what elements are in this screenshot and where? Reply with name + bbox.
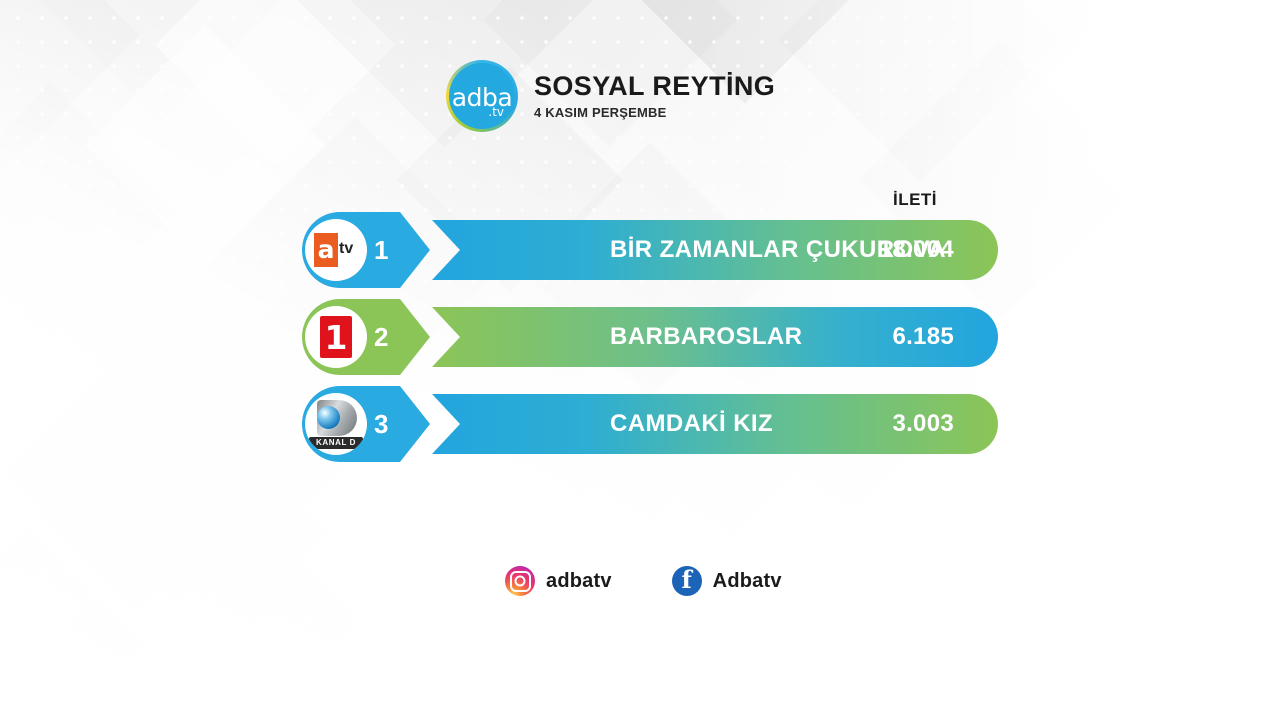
ranking-row: CAMDAKİ KIZ 3.003 KANAL D 3: [302, 386, 998, 462]
rank-badge: 1 2: [302, 299, 430, 375]
facebook-account[interactable]: f Adbatv: [672, 566, 782, 596]
kanald-nameplate-text: KANAL D: [316, 439, 356, 447]
page-subtitle-date: 4 KASIM PERŞEMBE: [534, 105, 775, 120]
instagram-icon[interactable]: [505, 566, 535, 596]
atv-mark: a tv: [311, 233, 361, 267]
message-count: 3.003: [892, 410, 954, 438]
adba-tv-logo-icon: adba .tv: [446, 60, 518, 132]
instagram-account[interactable]: adbatv: [505, 566, 612, 596]
rank-number: 2: [374, 324, 388, 350]
kanald-sphere: [317, 406, 340, 429]
rank-badge: KANAL D 3: [302, 386, 430, 462]
header: adba .tv SOSYAL REYTİNG 4 KASIM PERŞEMBE: [446, 60, 775, 132]
instagram-handle: adbatv: [546, 570, 612, 593]
ranking-bar: BARBAROSLAR 6.185: [432, 307, 998, 367]
social-footer: adbatv f Adbatv: [505, 566, 782, 596]
kanald-logo-icon: KANAL D: [305, 393, 367, 455]
trt1-logo-icon: 1: [305, 306, 367, 368]
header-text-block: SOSYAL REYTİNG 4 KASIM PERŞEMBE: [534, 72, 775, 120]
ranking-row: BİR ZAMANLAR ÇUKUROVA 18.004 a tv 1: [302, 212, 998, 288]
facebook-handle: Adbatv: [713, 570, 782, 593]
ranking-bar: CAMDAKİ KIZ 3.003: [432, 394, 998, 454]
facebook-f-glyph: f: [682, 568, 692, 592]
atv-logo-icon: a tv: [305, 219, 367, 281]
atv-letter: a: [318, 237, 335, 262]
trt1-digit: 1: [325, 321, 348, 354]
program-name: BARBAROSLAR: [610, 323, 802, 351]
social-rating-graphic: adba .tv SOSYAL REYTİNG 4 KASIM PERŞEMBE…: [0, 0, 1280, 720]
message-count: 18.004: [879, 236, 954, 264]
kanald-nameplate: KANAL D: [309, 437, 363, 449]
rank-number: 1: [374, 237, 388, 263]
atv-orange-box: a: [314, 233, 338, 267]
trt1-red-box: 1: [320, 316, 352, 358]
rank-badge: a tv 1: [302, 212, 430, 288]
atv-suffix: tv: [339, 241, 353, 257]
value-column-header: İLETİ: [855, 190, 975, 210]
message-count: 6.185: [892, 323, 954, 351]
logo-inner-disc: adba .tv: [449, 63, 515, 129]
ranking-row: BARBAROSLAR 6.185 1 2: [302, 299, 998, 375]
page-title: SOSYAL REYTİNG: [534, 72, 775, 100]
facebook-icon[interactable]: f: [672, 566, 702, 596]
ranking-bar: BİR ZAMANLAR ÇUKUROVA 18.004: [432, 220, 998, 280]
rank-number: 3: [374, 411, 388, 437]
program-name: CAMDAKİ KIZ: [610, 410, 773, 438]
instagram-camera-glyph: [510, 571, 531, 592]
kanald-mark: KANAL D: [309, 399, 363, 449]
logo-tld: .tv: [488, 106, 504, 118]
